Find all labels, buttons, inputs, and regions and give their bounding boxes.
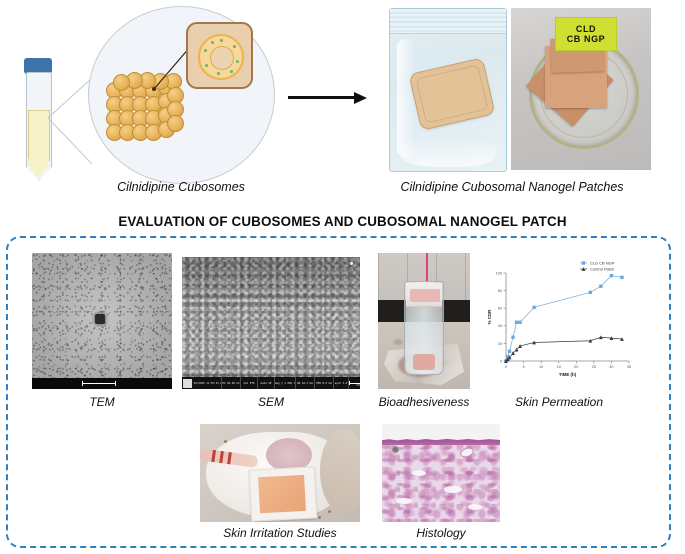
tem-block: TEM (28, 253, 176, 413)
cubosome-bilayer-inset (186, 22, 253, 89)
patch-active-area (258, 475, 306, 513)
bio-glass-vial (404, 281, 444, 375)
label-sem: SEM (182, 395, 360, 409)
petri-label-line1: CLD (576, 24, 596, 34)
sem-db-spot: spot 3.0 (334, 377, 349, 389)
sem-databar: 7/24/2025 11:55:33 AM HV 20.00 kV det ET… (182, 377, 360, 389)
sem-db-scalebar: 20 µm IITG Pilani Goa Campus (349, 379, 360, 387)
label-skin-irritation: Skin Irritation Studies (200, 526, 360, 540)
skin-irritation-block: Skin Irritation Studies (200, 424, 360, 546)
svg-text:80: 80 (498, 289, 502, 293)
sem-vendor-logo-icon (183, 379, 192, 388)
svg-text:CLD CB NGP: CLD CB NGP (590, 261, 615, 266)
sem-db-datetime: 7/24/2025 11:55:33 AM (193, 377, 222, 389)
bio-vial-cap (406, 283, 442, 307)
svg-text:Control Patch: Control Patch (590, 267, 614, 272)
svg-text:0: 0 (500, 359, 502, 363)
histology-micrograph (382, 424, 500, 522)
nanogel-patch-illustration (408, 57, 495, 131)
bioadhesiveness-photo (378, 253, 470, 389)
sem-db-det: det ETD (241, 377, 258, 389)
skin-permeation-chart: 02040608010005101520253035TIME (h)% CDRC… (484, 257, 634, 391)
svg-text:25: 25 (592, 365, 596, 369)
evaluation-title: EVALUATION OF CUBOSOMES AND CUBOSOMAL NA… (0, 214, 685, 229)
svg-text:35: 35 (627, 365, 631, 369)
svg-text:60: 60 (498, 307, 502, 311)
gloved-hand (320, 430, 360, 512)
arrow-head (354, 92, 367, 104)
dermis-layer (382, 444, 500, 522)
tem-scalebar-strip (32, 378, 172, 389)
sem-bright-spot (350, 262, 353, 265)
svg-text:40: 40 (498, 324, 502, 328)
petri-dish-label: CLD CB NGP (555, 17, 617, 51)
svg-text:0: 0 (505, 365, 507, 369)
sem-db-wd: WD 10.3 mm (296, 377, 315, 389)
histology-block: Histology (382, 424, 500, 546)
svg-text:% CDR: % CDR (487, 309, 492, 324)
bag-sheen-bottom (400, 137, 496, 167)
applied-patch (249, 466, 318, 521)
bio-patch-on-cap (410, 289, 440, 302)
sem-db-mag: mag □ 1 000 x (275, 377, 296, 389)
svg-text:5: 5 (523, 365, 525, 369)
histology-void-2 (444, 486, 462, 493)
svg-text:15: 15 (557, 365, 561, 369)
caption-cilnidipine-cubosomes: Cilnidipine Cubosomes (66, 180, 296, 194)
process-arrow (288, 92, 374, 104)
skin-irritation-photo (200, 424, 360, 522)
label-histology: Histology (382, 526, 500, 540)
tail-band-3 (227, 452, 232, 464)
svg-text:30: 30 (609, 365, 613, 369)
svg-text:20: 20 (574, 365, 578, 369)
patch-inner-border (416, 64, 489, 123)
bedding-debris-3 (224, 440, 227, 443)
bedding-debris-2 (318, 516, 321, 519)
arrow-shaft (288, 96, 356, 99)
sem-micrograph: 7/24/2025 11:55:33 AM HV 20.00 kV det ET… (182, 257, 360, 389)
sem-facility-text: IITG Pilani Goa Campus (356, 384, 360, 387)
bilayer-inner-core (210, 46, 234, 70)
bio-patch-bottom (413, 354, 435, 370)
sem-scale-line (349, 383, 360, 384)
ziplock-bag-illustration (389, 8, 507, 172)
sem-db-hv: HV 20.00 kV (222, 377, 241, 389)
caption-cilnidipine-patches: Cilnidipine Cubosomal Nanogel Patches (362, 180, 662, 194)
bedding-debris-1 (328, 510, 331, 513)
tem-cubosome-particle (95, 314, 105, 324)
bilayer-outer-ring (198, 34, 244, 80)
histology-void-1 (412, 470, 426, 476)
chart-svg: 02040608010005101520253035TIME (h)% CDRC… (484, 257, 634, 391)
histology-slide-blank (382, 424, 500, 440)
petri-label-line2: CB NGP (567, 34, 606, 44)
label-skin-permeation: Skin Permeation (484, 395, 634, 409)
petri-dish-photo: CLD CB NGP (511, 8, 651, 170)
label-bioadhesiveness: Bioadhesiveness (378, 395, 470, 409)
sem-db-hfw: HFW 8.6 mm (315, 377, 334, 389)
histology-void-3 (396, 498, 412, 504)
top-process-section: CLD CB NGP Cilnidipine Cubosomes Cilnidi… (0, 0, 685, 205)
tem-micrograph (32, 253, 172, 389)
histology-artifact (392, 446, 399, 453)
histology-void-4 (468, 504, 482, 510)
svg-text:20: 20 (498, 342, 502, 346)
svg-text:TIME (h): TIME (h) (559, 372, 577, 377)
svg-text:100: 100 (496, 271, 502, 275)
svg-text:10: 10 (539, 365, 543, 369)
tail-band-1 (211, 450, 216, 462)
skin-permeation-block: 02040608010005101520253035TIME (h)% CDRC… (484, 257, 634, 413)
sem-shading (182, 257, 360, 389)
bioadhesiveness-block: Bioadhesiveness (378, 253, 470, 413)
tail-band-2 (219, 451, 224, 463)
sem-db-mode: mode SE (258, 377, 275, 389)
label-tem: TEM (28, 395, 176, 409)
tem-scale-line (82, 383, 116, 384)
bag-seal (390, 9, 506, 34)
sem-block: 7/24/2025 11:55:33 AM HV 20.00 kV det ET… (182, 257, 360, 413)
